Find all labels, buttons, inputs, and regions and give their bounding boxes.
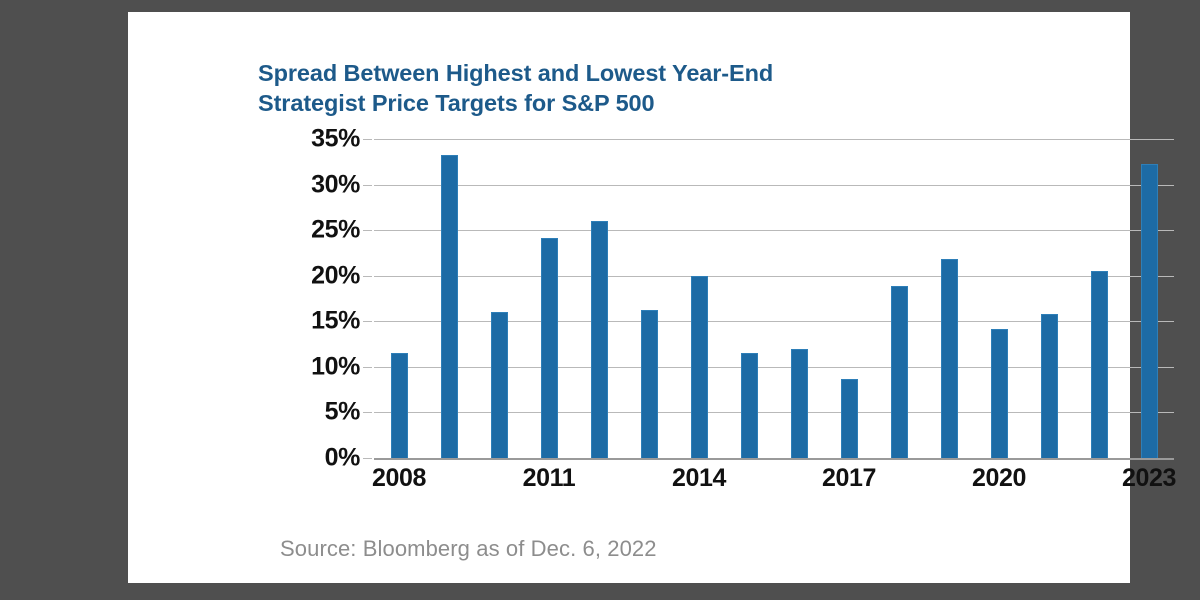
x-axis-label: 2023	[1122, 464, 1176, 493]
bar-series	[374, 139, 1174, 458]
y-axis-label: 0%	[282, 444, 360, 473]
bar	[541, 238, 558, 458]
bar	[1041, 314, 1058, 458]
bar	[841, 379, 858, 458]
bar	[791, 349, 808, 458]
bar	[1141, 164, 1158, 458]
bar	[991, 329, 1008, 458]
x-axis-label: 2008	[372, 464, 426, 493]
bar	[491, 312, 508, 458]
y-axis-tick	[363, 185, 372, 186]
bar	[941, 259, 958, 458]
bar	[641, 310, 658, 458]
bar	[391, 353, 408, 458]
y-axis-label: 25%	[282, 216, 360, 245]
bar	[741, 353, 758, 458]
y-axis-tick	[363, 458, 372, 459]
gridline	[374, 458, 1174, 460]
y-axis-tick	[363, 367, 372, 368]
bar	[441, 155, 458, 458]
y-axis-label: 15%	[282, 307, 360, 336]
chart-card: Spread Between Highest and Lowest Year-E…	[128, 12, 1130, 583]
y-axis-label: 5%	[282, 398, 360, 427]
x-axis-label: 2011	[523, 464, 576, 493]
screenshot-root: Spread Between Highest and Lowest Year-E…	[0, 0, 1200, 600]
bar	[891, 286, 908, 458]
bar	[591, 221, 608, 458]
x-axis-label: 2020	[972, 464, 1026, 493]
x-axis-labels: 200820112014201720202023	[374, 464, 1174, 504]
chart-title: Spread Between Highest and Lowest Year-E…	[258, 58, 918, 118]
y-axis-label: 35%	[282, 125, 360, 154]
y-axis-tick	[363, 276, 372, 277]
y-axis-label: 10%	[282, 352, 360, 381]
source-note: Source: Bloomberg as of Dec. 6, 2022	[280, 536, 657, 562]
y-axis-tick	[363, 412, 372, 413]
y-axis-tick	[363, 321, 372, 322]
y-axis-tick	[363, 230, 372, 231]
y-axis-label: 30%	[282, 170, 360, 199]
x-axis-label: 2014	[672, 464, 726, 493]
x-axis-label: 2017	[822, 464, 876, 493]
y-axis-labels: 35%30%25%20%15%10%5%0%	[280, 139, 360, 458]
plot-area	[374, 139, 1174, 458]
bar	[1091, 271, 1108, 458]
bar	[691, 276, 708, 458]
y-axis-label: 20%	[282, 261, 360, 290]
y-axis-tick	[363, 139, 372, 140]
